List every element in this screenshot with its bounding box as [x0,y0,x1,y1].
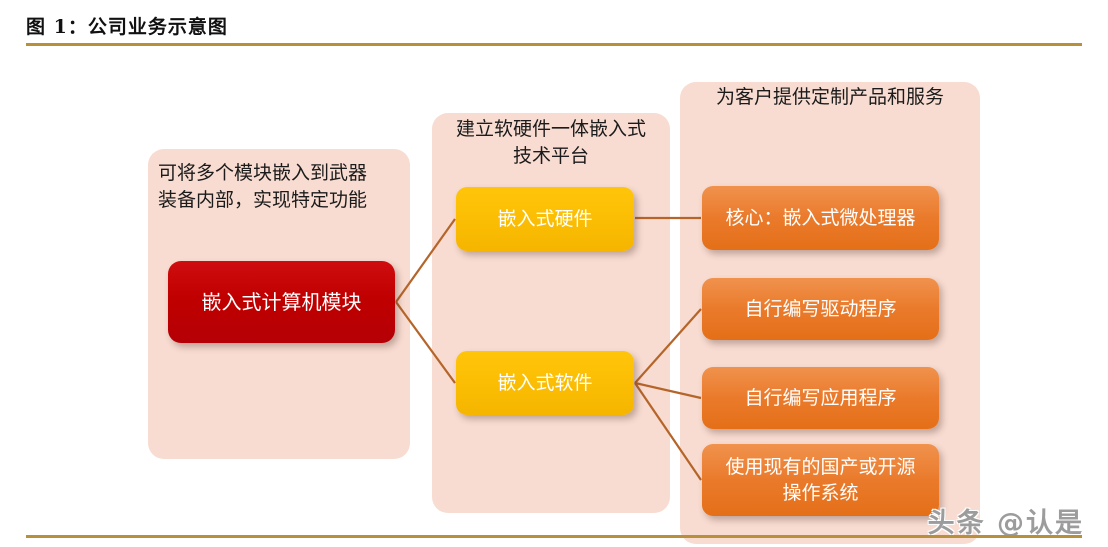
node-driver-development[interactable]: 自行编写驱动程序 [702,278,939,340]
node-embedded-software[interactable]: 嵌入式软件 [456,351,634,415]
node-application-development[interactable]: 自行编写应用程序 [702,367,939,429]
business-flow-diagram: 可将多个模块嵌入到武器 装备内部，实现特定功能 建立软硬件一体嵌入式 技术平台 … [0,46,1108,535]
node-operating-system[interactable]: 使用现有的国产或开源 操作系统 [702,444,939,516]
panel-right-caption: 为客户提供定制产品和服务 [684,84,976,111]
footer-divider [26,535,1082,538]
node-embedded-computer-module[interactable]: 嵌入式计算机模块 [168,261,395,343]
panel-tech-platform [432,113,670,513]
panel-middle-caption: 建立软硬件一体嵌入式 技术平台 [424,116,678,170]
page-title: 图 1：公司业务示意图 [26,12,228,39]
node-embedded-hardware[interactable]: 嵌入式硬件 [456,187,634,251]
node-core-microprocessor[interactable]: 核心：嵌入式微处理器 [702,186,939,250]
panel-left-caption: 可将多个模块嵌入到武器 装备内部，实现特定功能 [158,160,402,214]
